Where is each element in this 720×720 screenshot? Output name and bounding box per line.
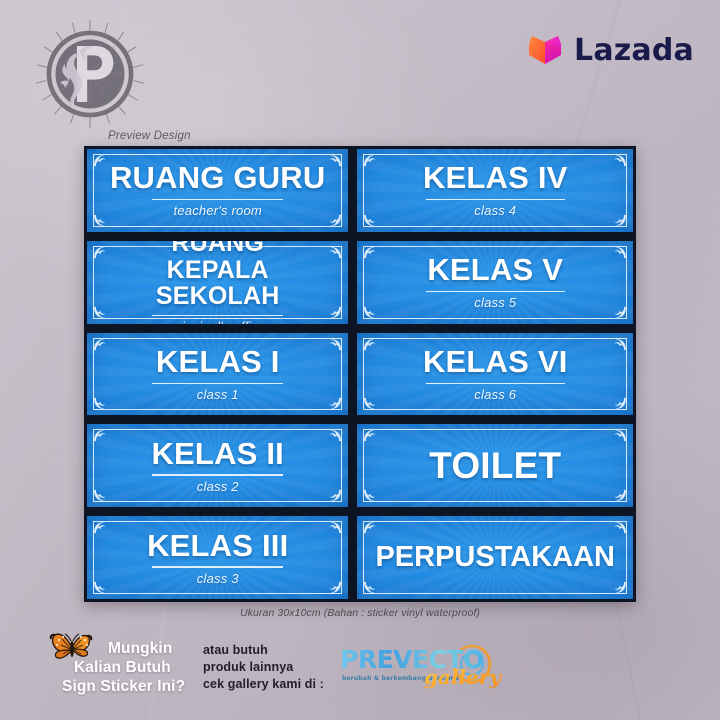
right-column: KELAS IV class 4 KELAS V class 5 bbox=[357, 149, 633, 599]
sign-title: PERPUSTAKAAN bbox=[375, 543, 615, 573]
sign-subtitle: class 5 bbox=[375, 295, 615, 310]
sign-divider bbox=[426, 383, 565, 384]
promo-right-line1: atau butuh bbox=[203, 642, 324, 659]
sign-kelas-5[interactable]: KELAS V class 5 bbox=[357, 241, 633, 324]
sign-divider bbox=[152, 566, 283, 567]
sign-divider bbox=[426, 291, 565, 292]
sign-body: KELAS II class 2 bbox=[87, 438, 348, 494]
sign-subtitle: class 2 bbox=[105, 479, 330, 494]
sign-body: RUANG GURU teacher's room bbox=[87, 162, 348, 218]
sign-divider bbox=[152, 383, 283, 384]
sign-divider bbox=[152, 199, 283, 200]
sign-title: KELAS IV bbox=[375, 162, 615, 194]
sign-subtitle: class 4 bbox=[375, 203, 615, 218]
sign-subtitle: principal's office bbox=[105, 319, 330, 324]
prevecto-p-monogram-watermark bbox=[34, 18, 146, 130]
promo-right-line3: cek gallery kami di : bbox=[203, 676, 324, 693]
sign-body: KELAS VI class 6 bbox=[357, 346, 633, 402]
sign-divider bbox=[426, 199, 565, 200]
sign-title: KELAS II bbox=[105, 438, 330, 470]
sign-title: KELAS VI bbox=[375, 346, 615, 378]
ornament-corner-icon bbox=[609, 488, 628, 503]
sign-title: KELAS V bbox=[375, 254, 615, 286]
sign-body: TOILET bbox=[357, 447, 633, 485]
ornament-corner-icon bbox=[609, 520, 628, 535]
sign-body: KELAS III class 3 bbox=[87, 530, 348, 586]
lazada-heart-icon bbox=[525, 30, 565, 70]
ornament-corner-icon bbox=[609, 428, 628, 443]
promo-right: atau butuh produk lainnya cek gallery ka… bbox=[203, 642, 324, 693]
lazada-logo: Lazada bbox=[525, 30, 694, 70]
left-column: RUANG GURU teacher's room RUANG KEPALA S… bbox=[87, 149, 348, 599]
footer: Mungkin Kalian Butuh Sign Sticker Ini? a… bbox=[0, 626, 720, 712]
ornament-corner-icon bbox=[609, 580, 628, 595]
sign-divider bbox=[152, 474, 283, 475]
sign-body: RUANG KEPALA SEKOLAH principal's office bbox=[87, 241, 348, 324]
sign-board-grid: RUANG GURU teacher's room RUANG KEPALA S… bbox=[84, 146, 636, 602]
sign-kelas-2[interactable]: KELAS II class 2 bbox=[87, 424, 348, 507]
sign-title: KELAS III bbox=[105, 530, 330, 562]
sign-body: KELAS V class 5 bbox=[357, 254, 633, 310]
sign-ruang-guru[interactable]: RUANG GURU teacher's room bbox=[87, 149, 348, 232]
sign-toilet[interactable]: TOILET bbox=[357, 424, 633, 507]
sign-body: PERPUSTAKAAN bbox=[357, 543, 633, 573]
promo-right-line2: produk lainnya bbox=[203, 659, 324, 676]
ornament-corner-icon bbox=[362, 428, 381, 443]
promo-left-line1: Mungkin bbox=[74, 640, 185, 659]
sign-body: KELAS IV class 4 bbox=[357, 162, 633, 218]
ornament-corner-icon bbox=[362, 488, 381, 503]
sign-kelas-1[interactable]: KELAS I class 1 bbox=[87, 333, 348, 416]
prevecto-gallery-script: gallery bbox=[424, 665, 502, 689]
sign-kelas-3[interactable]: KELAS III class 3 bbox=[87, 516, 348, 599]
sign-ruang-kepala-sekolah[interactable]: RUANG KEPALA SEKOLAH principal's office bbox=[87, 241, 348, 324]
sign-title: RUANG KEPALA SEKOLAH bbox=[105, 241, 330, 310]
sign-body: KELAS I class 1 bbox=[87, 346, 348, 402]
sign-subtitle: teacher's room bbox=[105, 203, 330, 218]
promo-left: Mungkin Kalian Butuh Sign Sticker Ini? bbox=[74, 640, 185, 697]
sign-subtitle: class 6 bbox=[375, 387, 615, 402]
sign-title: TOILET bbox=[375, 447, 615, 485]
ornament-corner-icon bbox=[362, 580, 381, 595]
promo-left-line2: Kalian Butuh bbox=[74, 659, 185, 678]
ornament-corner-icon bbox=[362, 520, 381, 535]
sign-kelas-6[interactable]: KELAS VI class 6 bbox=[357, 333, 633, 416]
sign-subtitle: class 1 bbox=[105, 387, 330, 402]
sign-title: RUANG GURU bbox=[105, 162, 330, 194]
promo-left-line3: Sign Sticker Ini? bbox=[62, 678, 185, 697]
sign-perpustakaan[interactable]: PERPUSTAKAAN bbox=[357, 516, 633, 599]
sign-title: KELAS I bbox=[105, 346, 330, 378]
lazada-wordmark: Lazada bbox=[574, 33, 694, 68]
size-note: Ukuran 30x10cm (Bahan : sticker vinyl wa… bbox=[0, 607, 720, 619]
prevecto-logo: PREVECTO berubah & berkembang bersama ga… bbox=[336, 640, 506, 696]
sign-subtitle: class 3 bbox=[105, 571, 330, 586]
preview-design-caption: Preview Design bbox=[108, 130, 191, 142]
sign-divider bbox=[152, 315, 283, 316]
sign-kelas-4[interactable]: KELAS IV class 4 bbox=[357, 149, 633, 232]
